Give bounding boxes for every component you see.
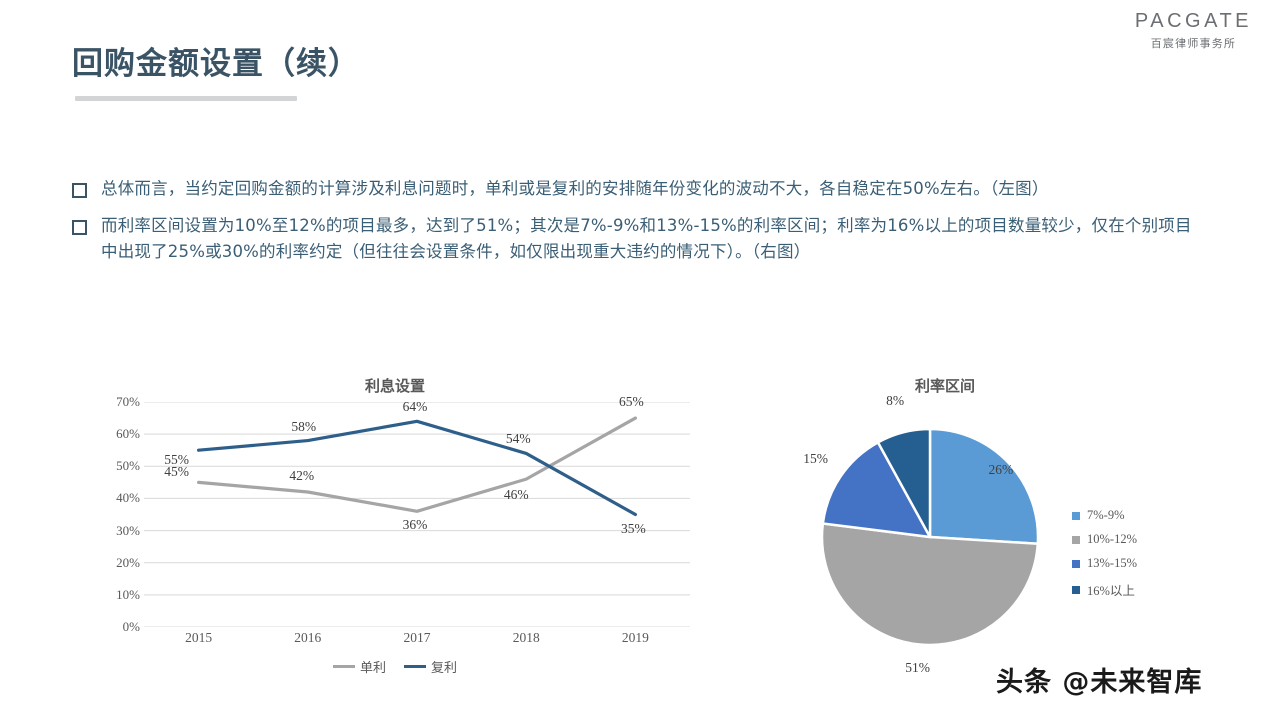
y-axis-tick-label: 40% <box>116 490 140 506</box>
line-chart-plot-area: 45%42%36%46%65%55%58%64%54%35% <box>144 402 690 627</box>
line-chart-plot-wrap: 0%10%20%30%40%50%60%70% 45%42%36%46%65%5… <box>100 402 690 627</box>
pie-chart-title: 利率区间 <box>780 375 1110 396</box>
data-label: 58% <box>291 419 316 435</box>
data-label: 36% <box>403 517 428 533</box>
line-chart-svg <box>144 402 690 627</box>
legend-label: 16%以上 <box>1087 580 1135 599</box>
list-item: 而利率区间设置为10%至12%的项目最多，达到了51%；其次是7%-9%和13%… <box>72 213 1202 266</box>
bullet-list: 总体而言，当约定回购金额的计算涉及利息问题时，单利或是复利的安排随年份变化的波动… <box>72 176 1202 276</box>
bullet-text: 而利率区间设置为10%至12%的项目最多，达到了51%；其次是7%-9%和13%… <box>101 213 1202 266</box>
legend-item[interactable]: 复利 <box>404 657 457 676</box>
legend-item[interactable]: 10%-12% <box>1072 532 1137 547</box>
logo-subwordmark: 百宸律师事务所 <box>1135 35 1252 51</box>
legend-swatch-icon <box>1072 512 1080 520</box>
logo-wordmark: PACGATE <box>1135 10 1252 32</box>
watermark: 头条 @未来智库 <box>996 660 1202 699</box>
y-axis-tick-label: 20% <box>116 555 140 571</box>
line-chart: 利息设置 0%10%20%30%40%50%60%70% 45%42%36%46… <box>100 375 690 695</box>
legend-swatch-icon <box>1072 586 1080 594</box>
data-label: 42% <box>289 468 314 484</box>
legend-label: 13%-15% <box>1087 556 1137 571</box>
data-label: 64% <box>403 399 428 415</box>
y-axis-tick-label: 10% <box>116 587 140 603</box>
pie-chart-plot-area: 26%51%15%8% <box>780 402 1080 657</box>
y-axis-tick-label: 60% <box>116 426 140 442</box>
pie-chart-legend: 7%-9%10%-12%13%-15%16%以上 <box>1072 508 1137 608</box>
pie-chart-svg <box>780 402 1080 657</box>
line-chart-legend: 单利复利 <box>100 657 690 676</box>
pie-slice-7%-9%[interactable] <box>930 429 1038 544</box>
line-chart-title: 利息设置 <box>100 375 690 396</box>
square-bullet-icon <box>72 220 87 235</box>
x-axis-tick-label: 2015 <box>185 630 212 646</box>
data-label: 55% <box>164 452 189 468</box>
legend-item[interactable]: 7%-9% <box>1072 508 1137 523</box>
pie-slice-10%-12%[interactable] <box>822 523 1038 645</box>
x-axis-tick-label: 2017 <box>404 630 431 646</box>
page-title: 回购金额设置（续） <box>72 38 360 83</box>
data-label: 54% <box>506 431 531 447</box>
data-label: 65% <box>619 394 644 410</box>
brand-logo: PACGATE 百宸律师事务所 <box>1135 10 1252 51</box>
pie-data-label: 51% <box>905 660 930 676</box>
pie-chart: 利率区间 26%51%15%8% <box>780 375 1110 695</box>
legend-swatch-icon <box>1072 560 1080 568</box>
legend-item[interactable]: 13%-15% <box>1072 556 1137 571</box>
legend-item[interactable]: 16%以上 <box>1072 580 1137 599</box>
x-axis-tick-label: 2019 <box>622 630 649 646</box>
legend-label: 单利 <box>360 657 386 676</box>
title-underline-rule <box>75 96 297 101</box>
pie-data-label: 8% <box>886 393 904 409</box>
series-line-单利 <box>199 418 636 511</box>
y-axis-tick-label: 30% <box>116 523 140 539</box>
x-axis-tick-label: 2018 <box>513 630 540 646</box>
legend-item[interactable]: 单利 <box>333 657 386 676</box>
x-axis-tick-labels: 20152016201720182019 <box>144 630 690 654</box>
list-item: 总体而言，当约定回购金额的计算涉及利息问题时，单利或是复利的安排随年份变化的波动… <box>72 176 1202 203</box>
x-axis-tick-label: 2016 <box>294 630 321 646</box>
square-bullet-icon <box>72 183 87 198</box>
bullet-text: 总体而言，当约定回购金额的计算涉及利息问题时，单利或是复利的安排随年份变化的波动… <box>101 176 1049 203</box>
pie-data-label: 15% <box>803 451 828 467</box>
legend-swatch-icon <box>333 665 355 668</box>
data-label: 46% <box>504 487 529 503</box>
legend-swatch-icon <box>404 665 426 668</box>
y-axis-tick-label: 50% <box>116 458 140 474</box>
series-line-复利 <box>199 421 636 514</box>
y-axis-tick-labels: 0%10%20%30%40%50%60%70% <box>100 402 140 627</box>
pie-data-label: 26% <box>988 462 1013 478</box>
legend-label: 复利 <box>431 657 457 676</box>
legend-swatch-icon <box>1072 536 1080 544</box>
legend-label: 10%-12% <box>1087 532 1137 547</box>
y-axis-tick-label: 0% <box>123 619 140 635</box>
y-axis-tick-label: 70% <box>116 394 140 410</box>
data-label: 35% <box>621 521 646 537</box>
legend-label: 7%-9% <box>1087 508 1125 523</box>
